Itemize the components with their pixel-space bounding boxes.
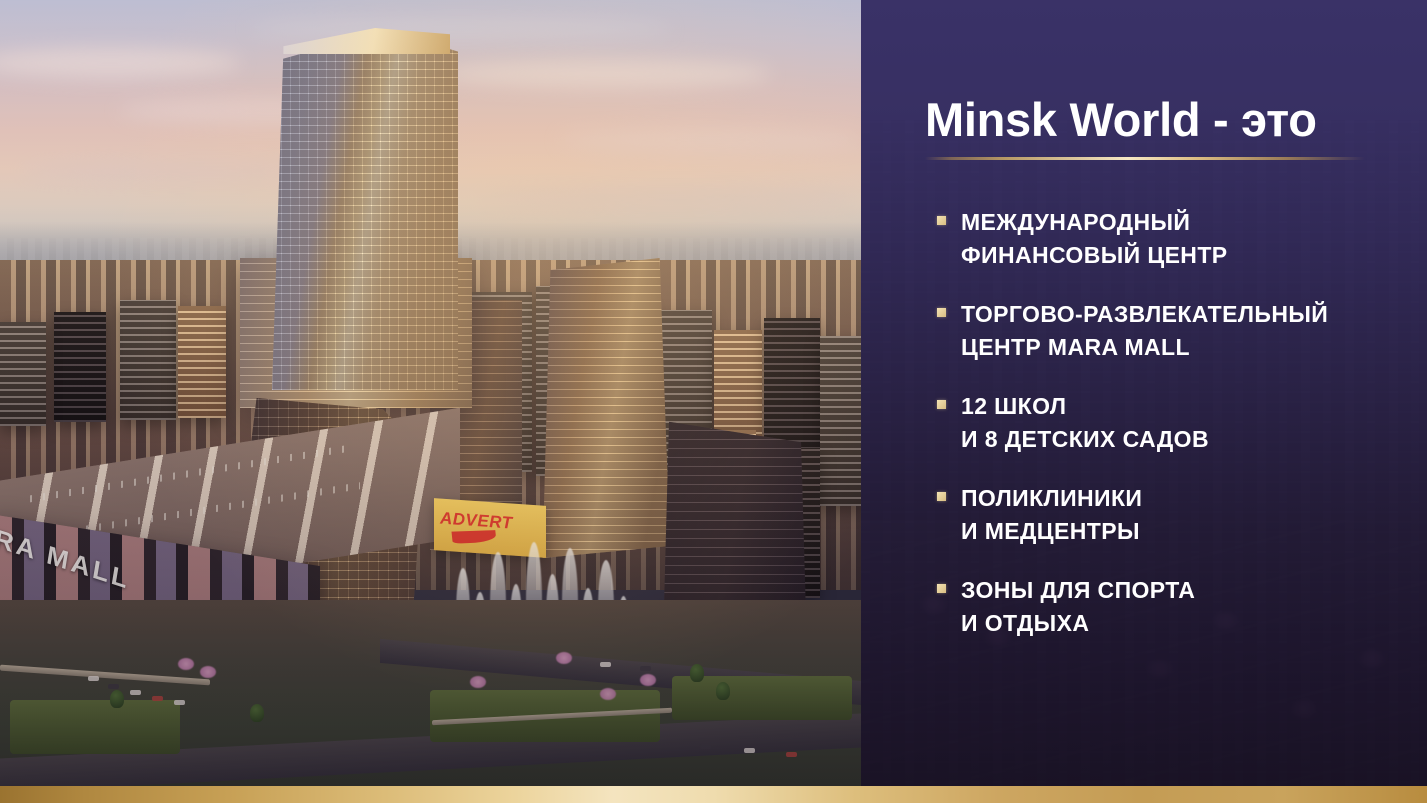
panel-content: Minsk World - это МЕЖДУНАРОДНЫЙ ФИНАНСОВ… [861,0,1427,803]
list-item: МЕЖДУНАРОДНЫЙ ФИНАНСОВЫЙ ЦЕНТР [925,206,1405,272]
title-divider [925,157,1365,160]
list-item: ЗОНЫ ДЛЯ СПОРТА И ОТДЫХА [925,574,1405,640]
tree [250,704,264,722]
blossom-tree [178,658,194,670]
list-item-line: И МЕДЦЕНТРЫ [961,515,1405,548]
residential-block [54,312,106,422]
lawn [672,676,852,720]
tree [716,682,730,700]
presentation-slide: RA MALL ADVERT [0,0,1427,803]
list-item-line: ТОРГОВО-РАЗВЛЕКАТЕЛЬНЫЙ [961,298,1405,331]
blossom-tree [600,688,616,700]
car [744,748,755,753]
cloud [250,18,670,40]
list-item: ПОЛИКЛИНИКИ И МЕДЦЕНТРЫ [925,482,1405,548]
blossom-tree [200,666,216,678]
square-bullet-icon [937,492,946,501]
district-render-photo: RA MALL ADVERT [0,0,861,803]
car [174,700,185,705]
car [152,696,163,701]
list-item-line: МЕЖДУНАРОДНЫЙ [961,206,1405,239]
list-item-line: ЦЕНТР MARA MALL [961,331,1405,364]
cloud [560,128,860,152]
square-bullet-icon [937,400,946,409]
cloud [480,190,860,210]
car [88,676,99,681]
list-item: ТОРГОВО-РАЗВЛЕКАТЕЛЬНЫЙ ЦЕНТР MARA MALL [925,298,1405,364]
car [786,752,797,757]
bottom-gold-bar [0,786,1427,803]
tree [110,690,124,708]
list-item: 12 ШКОЛ И 8 ДЕТСКИХ САДОВ [925,390,1405,456]
residential-block [178,306,226,418]
info-panel: Minsk World - это МЕЖДУНАРОДНЫЙ ФИНАНСОВ… [861,0,1427,803]
residential-block [820,336,861,506]
glass-tower-secondary [540,258,670,558]
blossom-tree [556,652,572,664]
car [640,666,651,671]
residential-block [120,300,176,420]
car [108,684,119,689]
blossom-tree [470,676,486,688]
lawn [10,700,180,754]
list-item-line: И ОТДЫХА [961,607,1405,640]
car [600,662,611,667]
list-item-line: 12 ШКОЛ [961,390,1405,423]
car [130,690,141,695]
cloud [440,60,770,88]
main-golden-skyscraper [272,30,458,390]
square-bullet-icon [937,308,946,317]
blossom-tree [640,674,656,686]
tree [690,664,704,682]
residential-block [0,322,46,426]
list-item-line: ФИНАНСОВЫЙ ЦЕНТР [961,239,1405,272]
list-item-line: ЗОНЫ ДЛЯ СПОРТА [961,574,1405,607]
feature-bullet-list: МЕЖДУНАРОДНЫЙ ФИНАНСОВЫЙ ЦЕНТР ТОРГОВО-Р… [925,206,1405,666]
square-bullet-icon [937,216,946,225]
list-item-line: ПОЛИКЛИНИКИ [961,482,1405,515]
car [700,744,711,749]
list-item-line: И 8 ДЕТСКИХ САДОВ [961,423,1405,456]
slide-title: Minsk World - это [925,92,1317,147]
square-bullet-icon [937,584,946,593]
